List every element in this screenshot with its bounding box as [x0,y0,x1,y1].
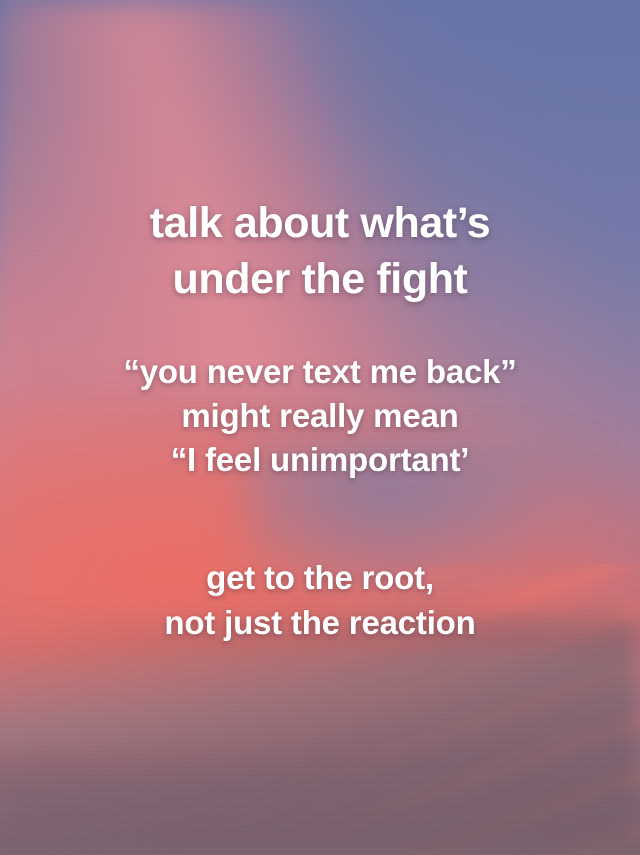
quote-stanza-line-2: might really mean [24,394,616,438]
closing-stanza-line-1: get to the root, [24,556,616,600]
quote-text-stack: talk about what’s under the fight “you n… [0,196,640,645]
quote-stanza-line-1: “you never text me back” [24,350,616,394]
closing-stanza: get to the root, not just the reaction [24,556,616,644]
headline: talk about what’s under the fight [24,196,616,308]
closing-stanza-line-2: not just the reaction [24,601,616,645]
quote-stanza: “you never text me back” might really me… [24,350,616,483]
quote-stanza-line-3: “I feel unimportant’ [24,438,616,482]
headline-line-2: under the fight [24,252,616,308]
dusk-haze-layer [0,616,640,855]
cloud-shelf-layer [0,650,640,753]
headline-line-1: talk about what’s [24,196,616,252]
quote-poster: talk about what’s under the fight “you n… [0,0,640,855]
